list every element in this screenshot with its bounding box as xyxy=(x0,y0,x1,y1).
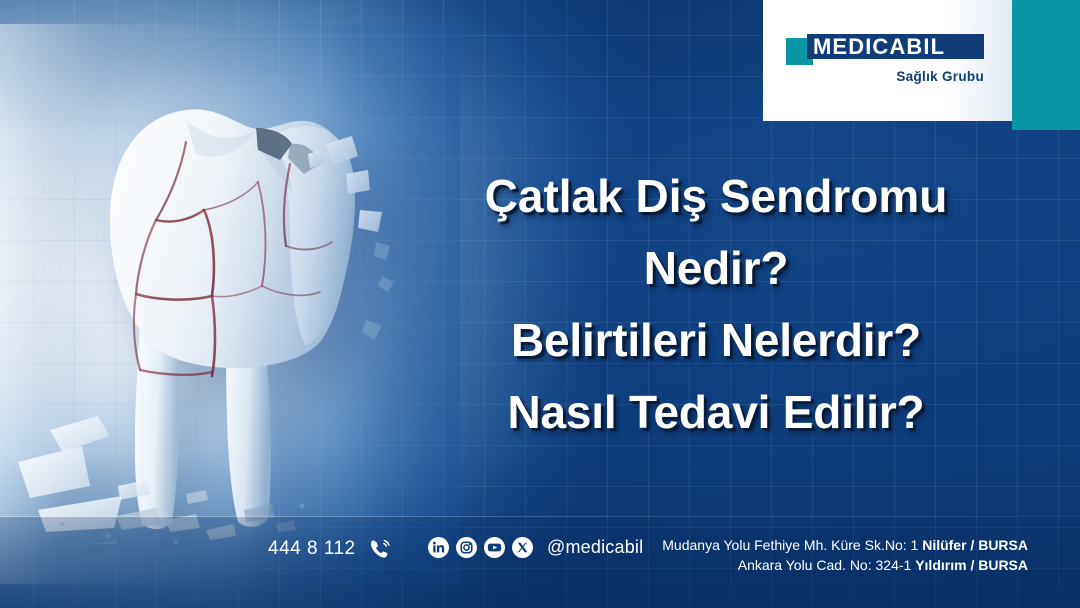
linkedin-icon[interactable] xyxy=(428,537,449,558)
cracked-tooth-image xyxy=(0,24,420,544)
headline-line-3: Belirtileri Nelerdir? xyxy=(386,304,1046,376)
social-handle: @medicabil xyxy=(547,537,643,558)
footer-phone-group[interactable]: 444 8 112 xyxy=(268,537,392,561)
logo-panel: MEDICABIL Sağlık Grubu xyxy=(763,0,1012,121)
headline-line-1: Çatlak Diş Sendromu xyxy=(386,160,1046,232)
address-line-1: Mudanya Yolu Fethiye Mh. Küre Sk.No: 1 N… xyxy=(662,535,1028,555)
phone-number: 444 8 112 xyxy=(268,538,356,560)
address-line-1-bold: Nilüfer / BURSA xyxy=(922,537,1028,553)
footer-social-group: @medicabil xyxy=(428,537,643,558)
logo-mark: MEDICABIL xyxy=(786,34,984,64)
address-line-2: Ankara Yolu Cad. No: 324-1 Yıldırım / BU… xyxy=(662,555,1028,575)
address-line-2-bold: Yıldırım / BURSA xyxy=(915,557,1028,573)
headline-line-4: Nasıl Tedavi Edilir? xyxy=(386,376,1046,448)
address-line-1-plain: Mudanya Yolu Fethiye Mh. Küre Sk.No: 1 xyxy=(662,537,922,553)
teal-accent-block xyxy=(1012,0,1080,130)
headline-line-2: Nedir? xyxy=(386,232,1046,304)
footer-address: Mudanya Yolu Fethiye Mh. Küre Sk.No: 1 N… xyxy=(662,535,1028,575)
address-line-2-plain: Ankara Yolu Cad. No: 324-1 xyxy=(738,557,915,573)
poster-canvas: MEDICABIL Sağlık Grubu Çatlak Diş Sendro… xyxy=(0,0,1080,608)
footer-bar: 444 8 112 xyxy=(0,517,1080,608)
logo-tagline: Sağlık Grubu xyxy=(786,69,984,84)
phone-icon xyxy=(368,537,392,561)
youtube-icon[interactable] xyxy=(484,537,505,558)
logo-wordmark: MEDICABIL xyxy=(813,35,945,58)
headline: Çatlak Diş Sendromu Nedir? Belirtileri N… xyxy=(386,160,1046,448)
logo: MEDICABIL Sağlık Grubu xyxy=(786,34,984,84)
x-twitter-icon[interactable] xyxy=(512,537,533,558)
instagram-icon[interactable] xyxy=(456,537,477,558)
